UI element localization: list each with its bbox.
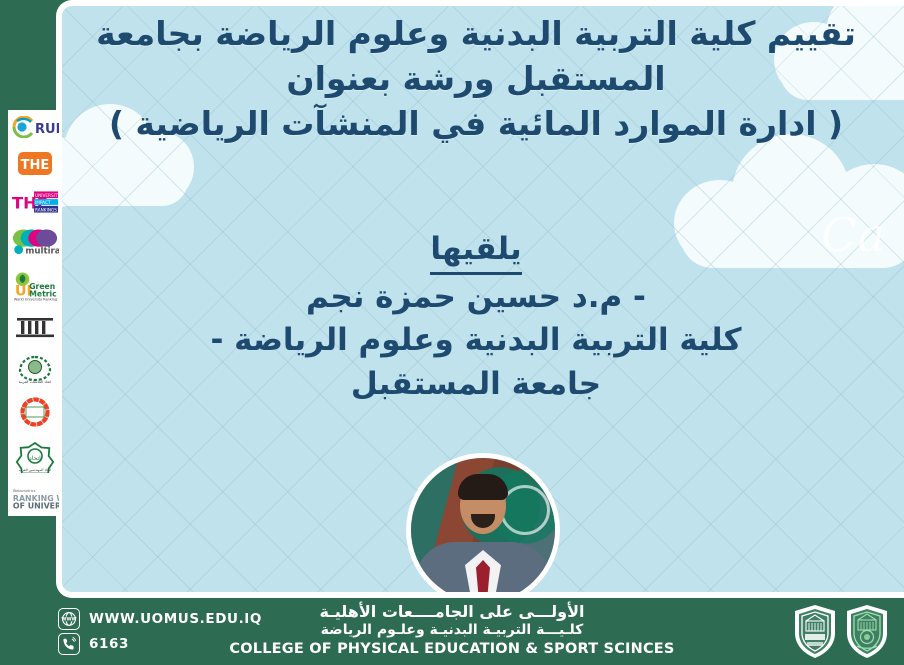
svg-text:UNIVERSITY: UNIVERSITY [35,193,59,198]
speaker-block: يلقيها - م.د حسين حمزة نجم كلية التربية … [62,228,890,406]
footer-emblems-group [792,603,890,660]
footer-english-line: COLLEGE OF PHYSICAL EDUCATION & SPORT SC… [0,640,904,659]
title-line-3: ( ادارة الموارد المائية في المنشآت الريا… [62,102,890,147]
svg-text:اتحاد الجامعات العربية: اتحاد الجامعات العربية [19,380,52,384]
speaker-label: يلقيها [430,229,521,275]
ui-greenmetric-logo: UI Green Metric World University Ranking [11,271,59,301]
the-ranking-logo: THE [11,151,59,176]
rankings-sidebar: RUR THE THE UNIVERSITY IMPACT RANKINGS [8,110,62,516]
svg-text:IMPACT: IMPACT [35,200,51,205]
sdg-wheel-logo [11,397,59,427]
poster-root: Ca تقييم كلية التربية البدنية وعلوم الري… [0,0,904,665]
svg-text:RANKINGS: RANKINGS [35,207,57,212]
footer-identity-block: الأولـــى على الجامــــعات الأهليـة كلـي… [0,602,904,658]
the-impact-rankings-logo: THE UNIVERSITY IMPACT RANKINGS [11,190,59,214]
content-panel: Ca تقييم كلية التربية البدنية وعلوم الري… [62,6,904,592]
svg-text:multirank: multirank [25,247,59,257]
university-of-almustaqbal-emblem [792,603,838,660]
footer-arabic-line-1: الأولـــى على الجامــــعات الأهليـة [0,602,904,622]
arab-engineers-federation-logo: اتحاد اتحاد المهندسين العرب [11,441,59,473]
svg-text:OF UNIVERSITIES: OF UNIVERSITIES [13,501,59,509]
footer-arabic-line-2: كلـيـــة التربيـة البدنيـة وعلـوم الرياض… [0,622,904,640]
speaker-label-row: يلقيها [62,228,890,276]
speaker-name: - م.د حسين حمزة نجم [62,276,890,320]
svg-text:اتحاد: اتحاد [29,455,41,462]
portrait-hair [458,474,508,500]
unesco-pillars-logo [11,314,59,340]
svg-text:RUR: RUR [35,122,59,137]
footer-bar: WWW WWW.UOMUS.EDU.IQ 6163 الأولـــى على … [0,598,904,665]
rur-ranking-logo: RUR [11,116,59,138]
speaker-affiliation: كلية التربية البدنية وعلوم الرياضة - [62,319,890,363]
svg-text:اتحاد المهندسين العرب: اتحاد المهندسين العرب [19,468,51,472]
speaker-university: جامعة المستقبل [62,363,890,407]
svg-text:THE: THE [21,158,50,173]
u-multirank-logo: multirank [11,227,59,257]
arab-universities-union-logo: اتحاد الجامعات العربية [11,354,59,384]
webometrics-logo: Webometrics RANKING WEB OF UNIVERSITIES [11,486,59,510]
title-block: تقييم كلية التربية البدنية وعلوم الرياضة… [62,12,890,147]
title-line-1: تقييم كلية التربية البدنية وعلوم الرياضة… [62,12,890,57]
speaker-portrait [411,458,555,592]
title-line-2: المستقبل ورشة بعنوان [62,57,890,102]
college-emblem [844,603,890,660]
svg-text:World University Ranking: World University Ranking [14,297,57,301]
svg-text:Webometrics: Webometrics [13,489,36,493]
